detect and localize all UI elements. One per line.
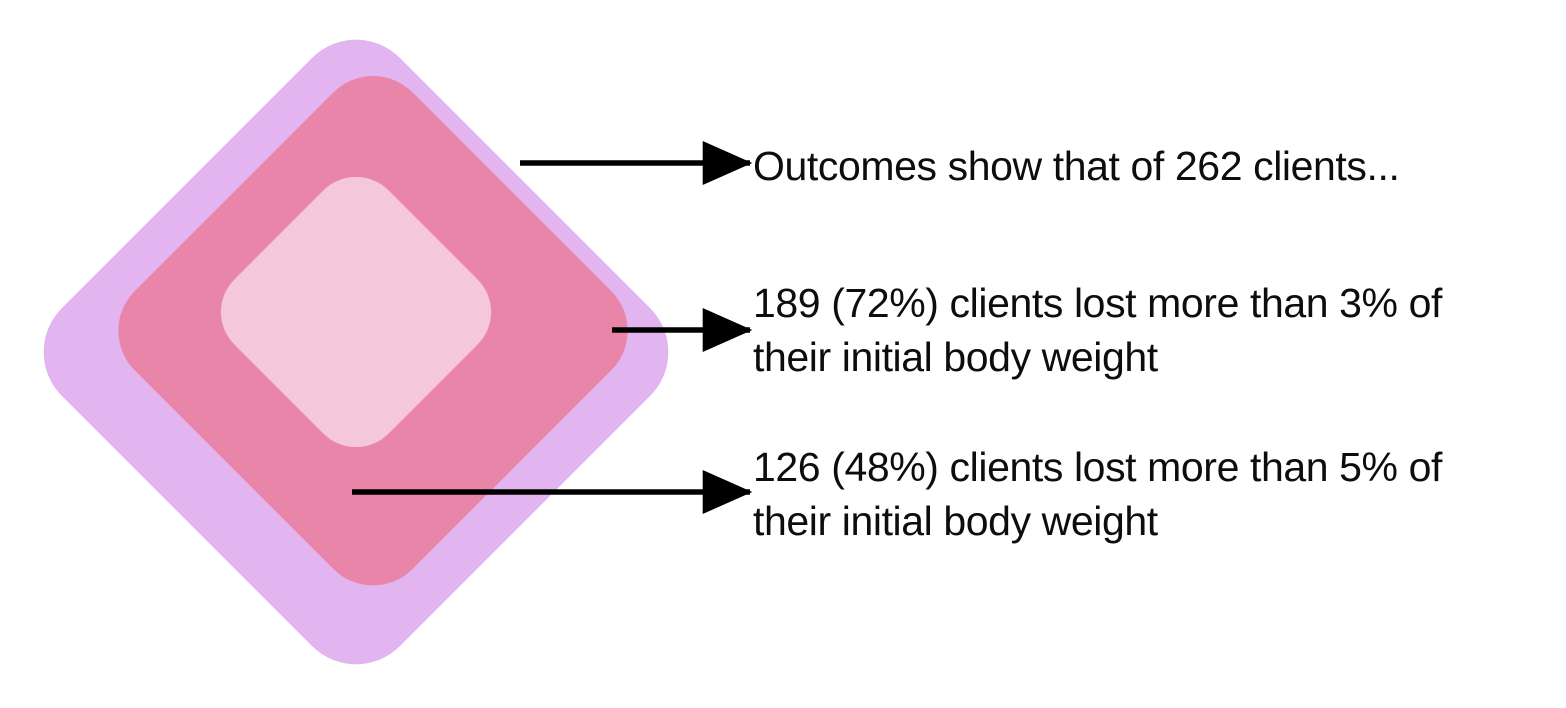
callout-label-lost-3-percent: 189 (72%) clients lost more than 3% of t… [753,276,1543,384]
callout-label-total-clients: Outcomes show that of 262 clients... [753,139,1543,193]
diagram-canvas: Outcomes show that of 262 clients... 189… [0,0,1566,708]
callout-label-lost-5-percent: 126 (48%) clients lost more than 5% of t… [753,440,1543,548]
